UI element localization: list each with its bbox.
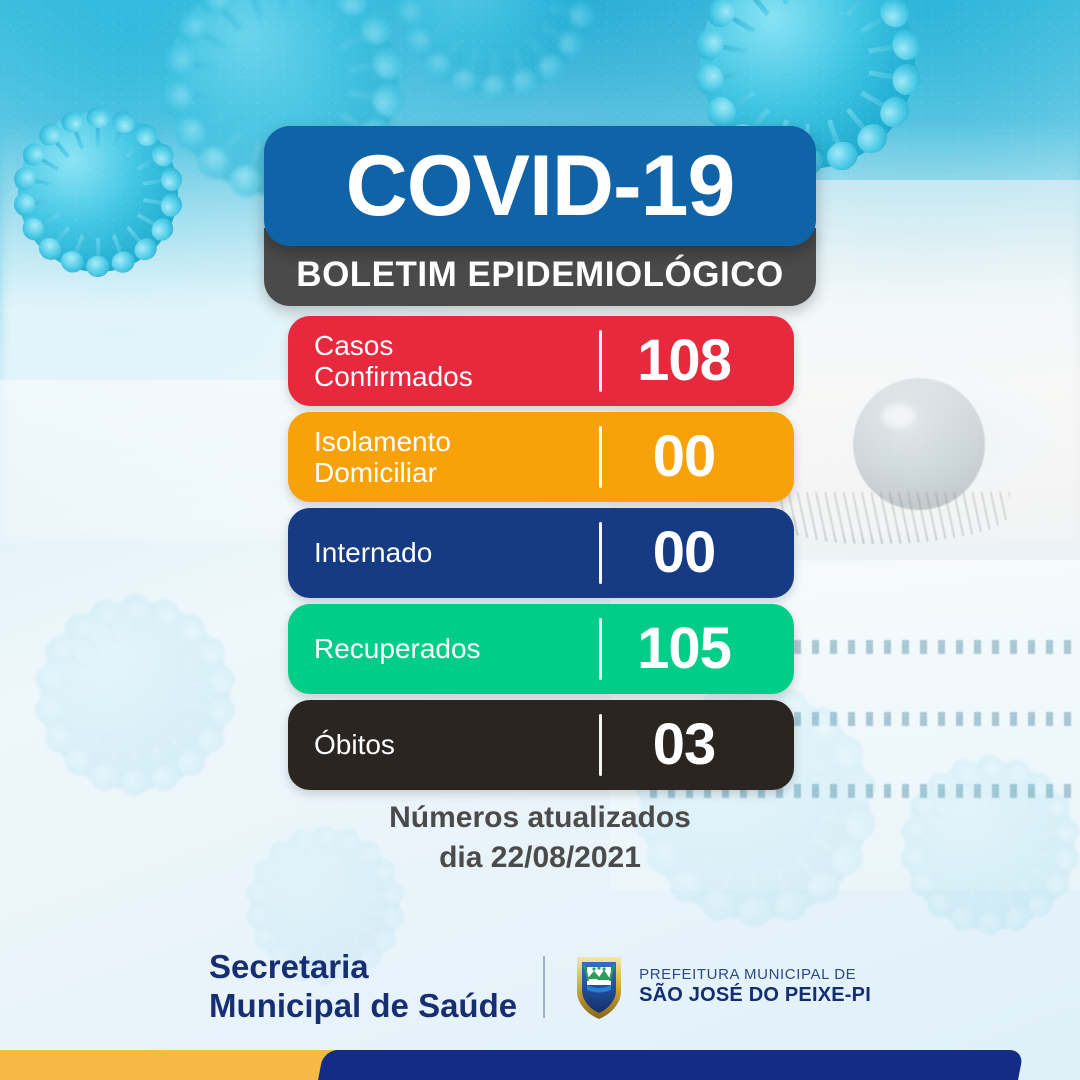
stat-row-recuperados: Recuperados105 [288,604,794,694]
stats-list: Casos Confirmados108Isolamento Domicilia… [288,316,794,796]
stat-value: 00 [588,428,794,486]
stat-value: 03 [588,716,794,774]
stat-value: 00 [588,524,794,582]
stat-value: 108 [588,332,794,390]
prefeitura-city: SÃO JOSÉ DO PEIXE-PI [639,984,871,1006]
bottom-strip-blue [318,1050,1024,1080]
stat-divider [599,330,602,392]
stat-value: 105 [588,620,794,678]
stat-row-obitos: Óbitos03 [288,700,794,790]
update-caption: Números atualizados dia 22/08/2021 [0,798,1080,877]
poster-footer: Secretaria Municipal de Saúde [0,948,1080,1026]
stat-divider [599,714,602,776]
stat-label: Isolamento Domiciliar [288,426,588,489]
coat-of-arms-icon [571,953,627,1021]
eye-icon [853,378,985,510]
prefeitura-text: PREFEITURA MUNICIPAL DE SÃO JOSÉ DO PEIX… [639,967,871,1006]
poster-header: COVID-19 BOLETIM EPIDEMIOLÓGICO [264,126,816,306]
stat-label: Casos Confirmados [288,330,588,393]
eyelashes [780,492,1010,544]
stat-label: Recuperados [288,633,588,664]
footer-divider [543,956,545,1018]
covid-bulletin-poster: COVID-19 BOLETIM EPIDEMIOLÓGICO Casos Co… [0,0,1080,1080]
stat-divider [599,522,602,584]
stat-divider [599,618,602,680]
virus-icon [400,0,590,94]
prefeitura-label: PREFEITURA MUNICIPAL DE [639,967,871,984]
stat-label: Internado [288,537,588,568]
title-text: COVID-19 [346,143,735,229]
virus-icon [40,600,230,790]
virus-icon [18,112,178,272]
stat-row-isolamento-domiciliar: Isolamento Domiciliar00 [288,412,794,502]
secretaria-name: Secretaria Municipal de Saúde [209,948,517,1026]
subtitle-text: BOLETIM EPIDEMIOLÓGICO [296,257,783,292]
page-title: COVID-19 [264,126,816,246]
prefeitura-brand: PREFEITURA MUNICIPAL DE SÃO JOSÉ DO PEIX… [571,953,871,1021]
stat-row-casos-confirmados: Casos Confirmados108 [288,316,794,406]
stat-label: Óbitos [288,729,588,760]
stat-divider [599,426,602,488]
stat-row-internado: Internado00 [288,508,794,598]
